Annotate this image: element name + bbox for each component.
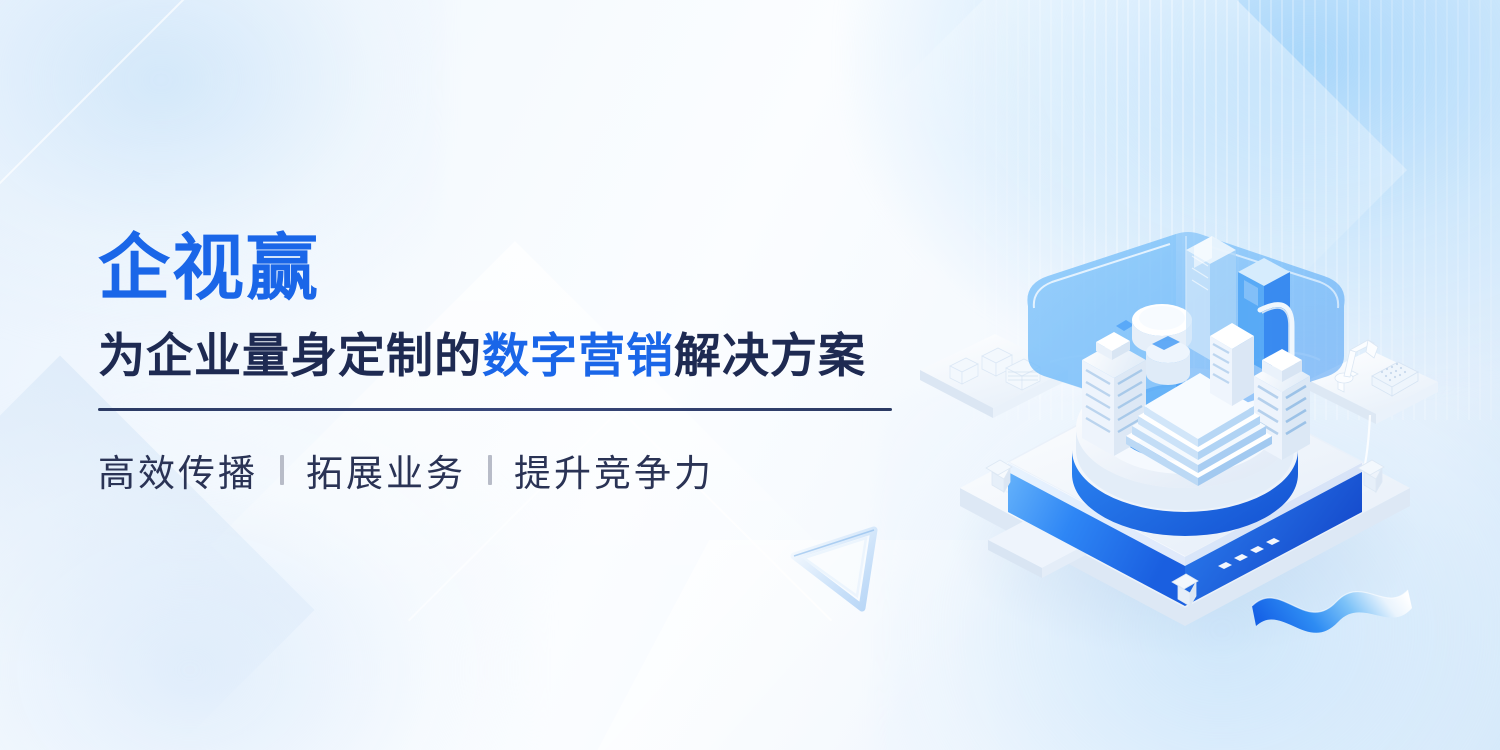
tagline-item-3: 提升竞争力 — [514, 443, 714, 497]
divider — [98, 408, 892, 411]
tagline-separator-icon — [280, 455, 284, 485]
marketing-banner: 企视赢 为企业量身定制的数字营销解决方案 高效传播 拓展业务 提升竞争力 — [0, 0, 1500, 750]
hero-illustration — [900, 210, 1460, 680]
headline-suffix: 解决方案 — [674, 329, 866, 384]
glass-triangle-decoration — [782, 512, 892, 612]
tagline-separator-icon — [488, 455, 492, 485]
tagline-list: 高效传播 拓展业务 提升竞争力 — [98, 443, 918, 497]
brand-logo: 企视赢 — [98, 232, 918, 304]
building-mid — [1210, 323, 1254, 406]
page-title: 为企业量身定制的数字营销解决方案 — [98, 330, 918, 384]
hero-text-block: 企视赢 为企业量身定制的数字营销解决方案 高效传播 拓展业务 提升竞争力 — [98, 232, 918, 497]
tagline-item-2: 拓展业务 — [306, 443, 466, 497]
headline-highlight: 数字营销 — [482, 329, 674, 384]
tagline-item-1: 高效传播 — [98, 443, 258, 497]
headline-prefix: 为企业量身定制的 — [98, 329, 482, 384]
